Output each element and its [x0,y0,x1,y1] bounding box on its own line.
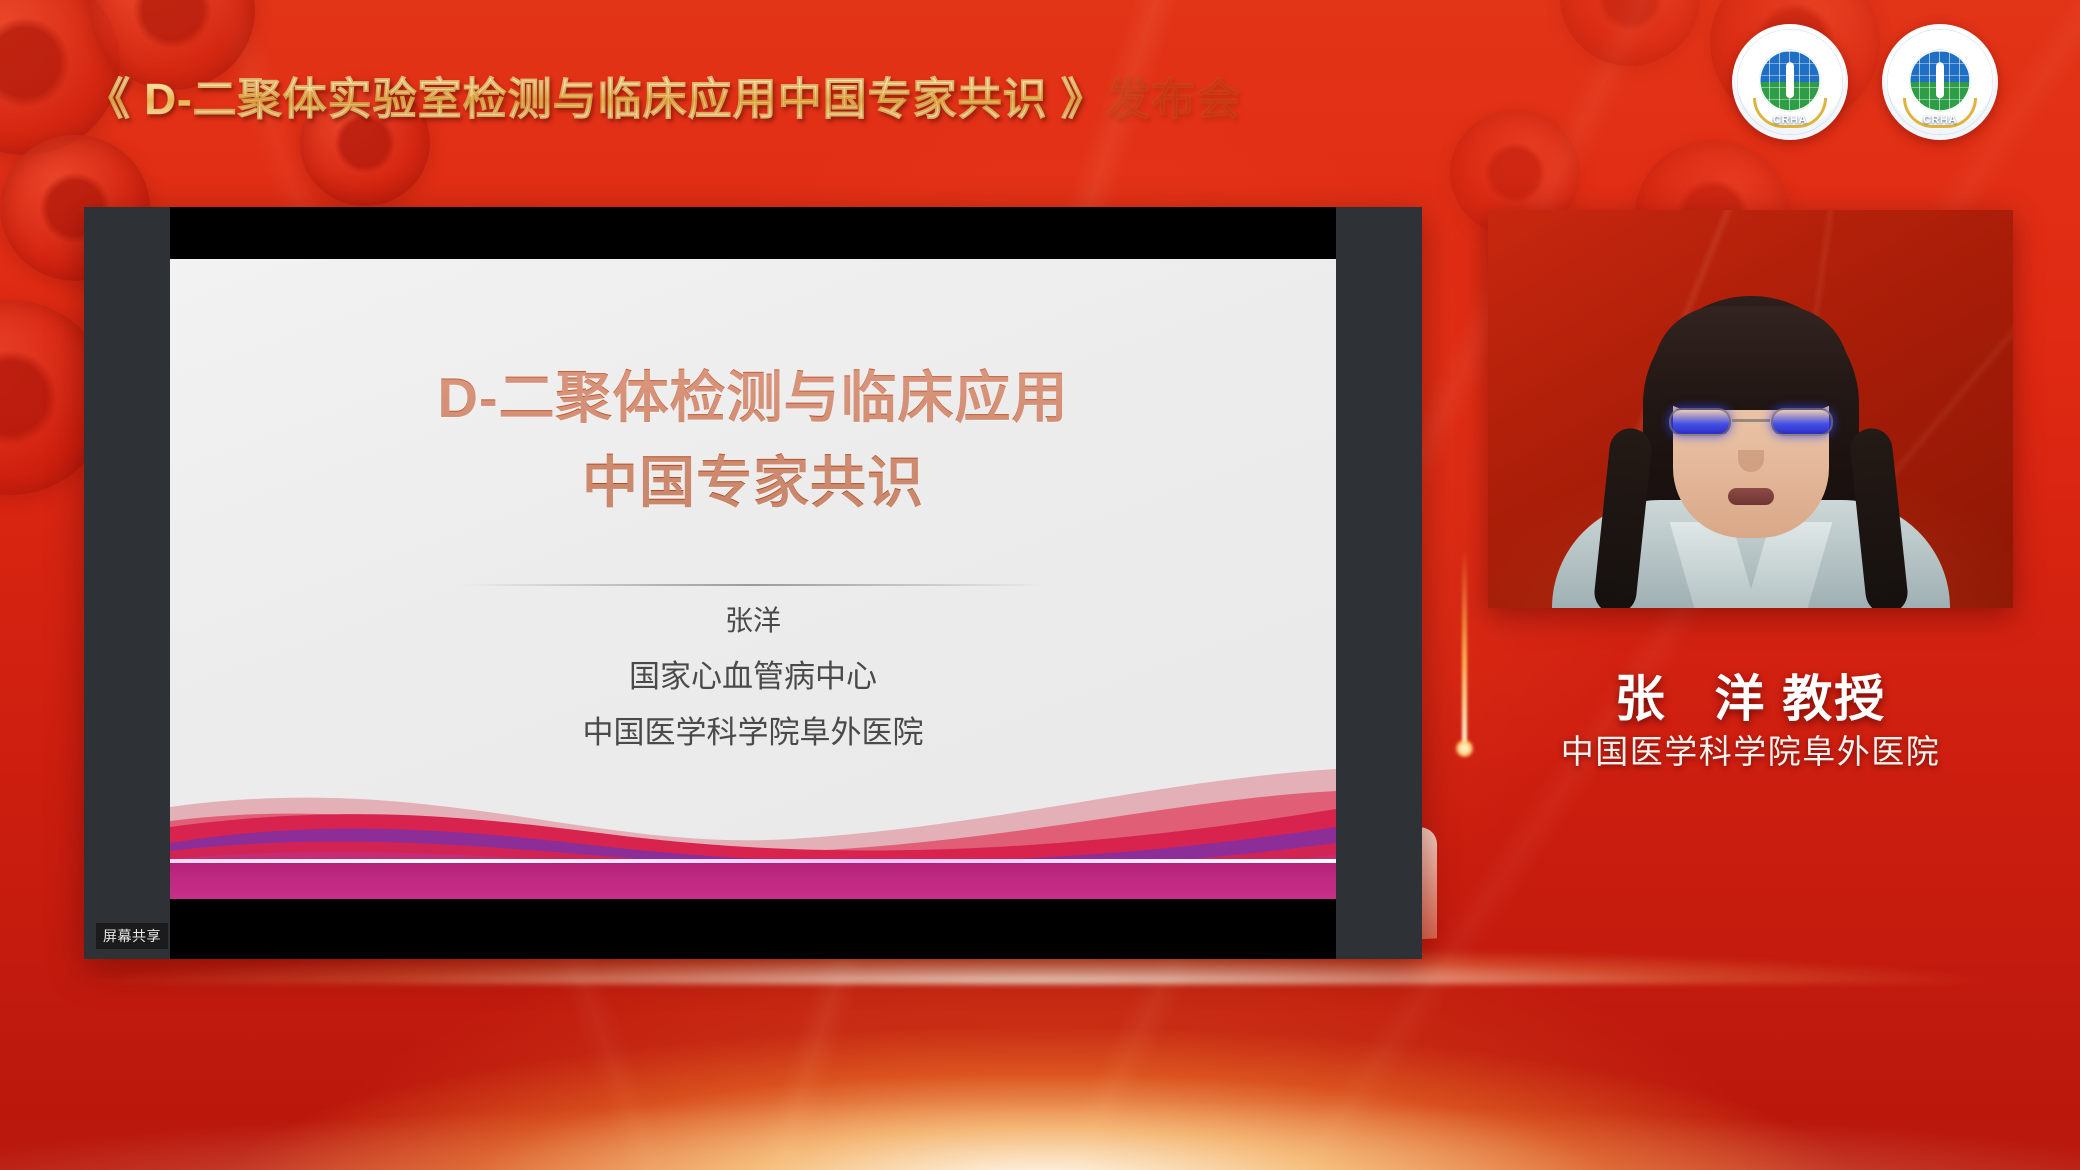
crha-logo-right-icon: CRHA [1882,24,1998,140]
slide-divider [460,584,1046,586]
slide-presenter-name: 张洋 [170,607,1336,635]
shared-screen-taskbar [170,899,1336,959]
speaker-organization-caption: 中国医学科学院阜外医院 [1488,725,2013,773]
slide-affiliation-two: 中国医学科学院阜外医院 [170,717,1336,748]
screen-share-badge: 屏幕共享 [96,923,168,949]
presentation-slide: D-二聚体检测与临床应用 中国专家共识 张洋 国家心血管病中心 中国医学科学院阜… [170,259,1336,899]
speaker-name-caption: 张 洋 教授 [1488,659,2013,731]
broadcast-stage: 《 D-二聚体实验室检测与临床应用中国专家共识 》发布会 CRHA CRHA [0,0,2080,1170]
slide-title-line-2: 中国专家共识 [170,440,1336,525]
crha-logo-left-icon: CRHA [1732,24,1848,140]
shared-screen-window[interactable]: D-二聚体检测与临床应用 中国专家共识 张洋 国家心血管病中心 中国医学科学院阜… [84,207,1422,959]
speaker-video-tile[interactable] [1488,210,2013,608]
slide-title-line-1: D-二聚体检测与临床应用 [170,355,1336,440]
speaker-glasses [1669,408,1833,438]
slide-presenter-block: 张洋 国家心血管病中心 中国医学科学院阜外医院 [170,607,1336,748]
desktop-wallpaper-waves [170,747,1336,899]
speaker-webcam-figure [1586,278,1916,608]
crha-logo-left-abbr: CRHA [1732,114,1848,126]
crha-logo-right-abbr: CRHA [1882,114,1998,126]
logo-group: CRHA CRHA [1732,24,1998,140]
event-title: 《 D-二聚体实验室检测与临床应用中国专家共识 》发布会 [86,60,1096,130]
slide-title: D-二聚体检测与临床应用 中国专家共识 [170,355,1336,525]
slide-affiliation-one: 国家心血管病中心 [170,661,1336,692]
